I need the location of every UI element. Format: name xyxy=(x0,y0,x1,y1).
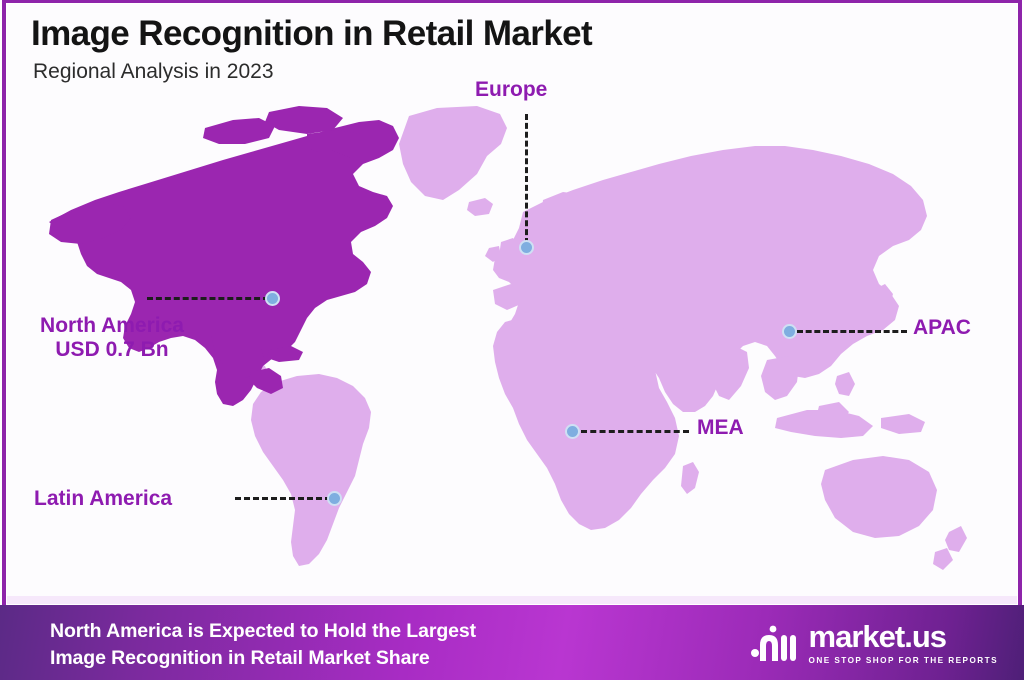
market-us-logo-icon xyxy=(748,623,800,663)
region-antarctica-fringe xyxy=(7,596,1017,604)
leader-line-europe xyxy=(525,114,528,244)
region-philippines xyxy=(835,372,855,396)
region-value-north-america: USD 0.7 Bn xyxy=(17,338,207,362)
banner-headline-line1: North America is Expected to Hold the La… xyxy=(50,618,476,645)
marker-north-america xyxy=(265,291,280,306)
leader-line-apac xyxy=(797,330,907,333)
region-madagascar xyxy=(681,462,699,494)
region-label-mea-name: MEA xyxy=(697,416,744,439)
frame-border-top xyxy=(2,0,1022,3)
region-label-europe: Europe xyxy=(475,78,547,102)
region-label-europe-name: Europe xyxy=(475,78,547,101)
region-label-north-america: North America USD 0.7 Bn xyxy=(17,314,207,361)
region-new-zealand xyxy=(945,526,967,552)
region-label-apac: APAC xyxy=(913,316,971,340)
region-indochina xyxy=(761,356,799,400)
leader-line-mea xyxy=(581,430,689,433)
region-label-north-america-name: North America xyxy=(40,314,184,337)
leader-line-latin-america xyxy=(235,497,331,500)
region-central-america xyxy=(249,368,283,394)
region-iceland xyxy=(467,198,493,216)
brand-logo[interactable]: market.us ONE STOP SHOP FOR THE REPORTS xyxy=(748,621,998,665)
logo-name: market.us xyxy=(809,621,998,652)
region-arctic-islands-1 xyxy=(203,118,275,144)
region-greenland xyxy=(399,106,507,200)
banner-headline: North America is Expected to Hold the La… xyxy=(50,618,476,671)
leader-line-north-america xyxy=(147,297,269,300)
marker-apac xyxy=(782,324,797,339)
region-label-mea: MEA xyxy=(697,416,744,440)
logo-text-block: market.us ONE STOP SHOP FOR THE REPORTS xyxy=(809,621,998,665)
region-arctic-islands-2 xyxy=(265,106,343,134)
region-new-zealand-south xyxy=(933,548,953,570)
infographic-root: Image Recognition in Retail Market Regio… xyxy=(0,0,1024,680)
frame-border-left xyxy=(2,0,6,606)
map-card: Image Recognition in Retail Market Regio… xyxy=(7,4,1017,604)
region-label-latin-america-name: Latin America xyxy=(34,487,172,510)
logo-tagline: ONE STOP SHOP FOR THE REPORTS xyxy=(809,656,998,665)
region-south-america xyxy=(251,374,371,566)
marker-latin-america xyxy=(327,491,342,506)
bottom-banner: North America is Expected to Hold the La… xyxy=(0,605,1024,680)
marker-europe xyxy=(519,240,534,255)
banner-headline-line2: Image Recognition in Retail Market Share xyxy=(50,645,476,672)
region-new-guinea xyxy=(881,414,925,434)
region-label-latin-america: Latin America xyxy=(34,487,172,511)
region-australia xyxy=(821,456,937,538)
region-label-apac-name: APAC xyxy=(913,316,971,339)
frame-border-right xyxy=(1018,0,1022,606)
marker-mea xyxy=(565,424,580,439)
